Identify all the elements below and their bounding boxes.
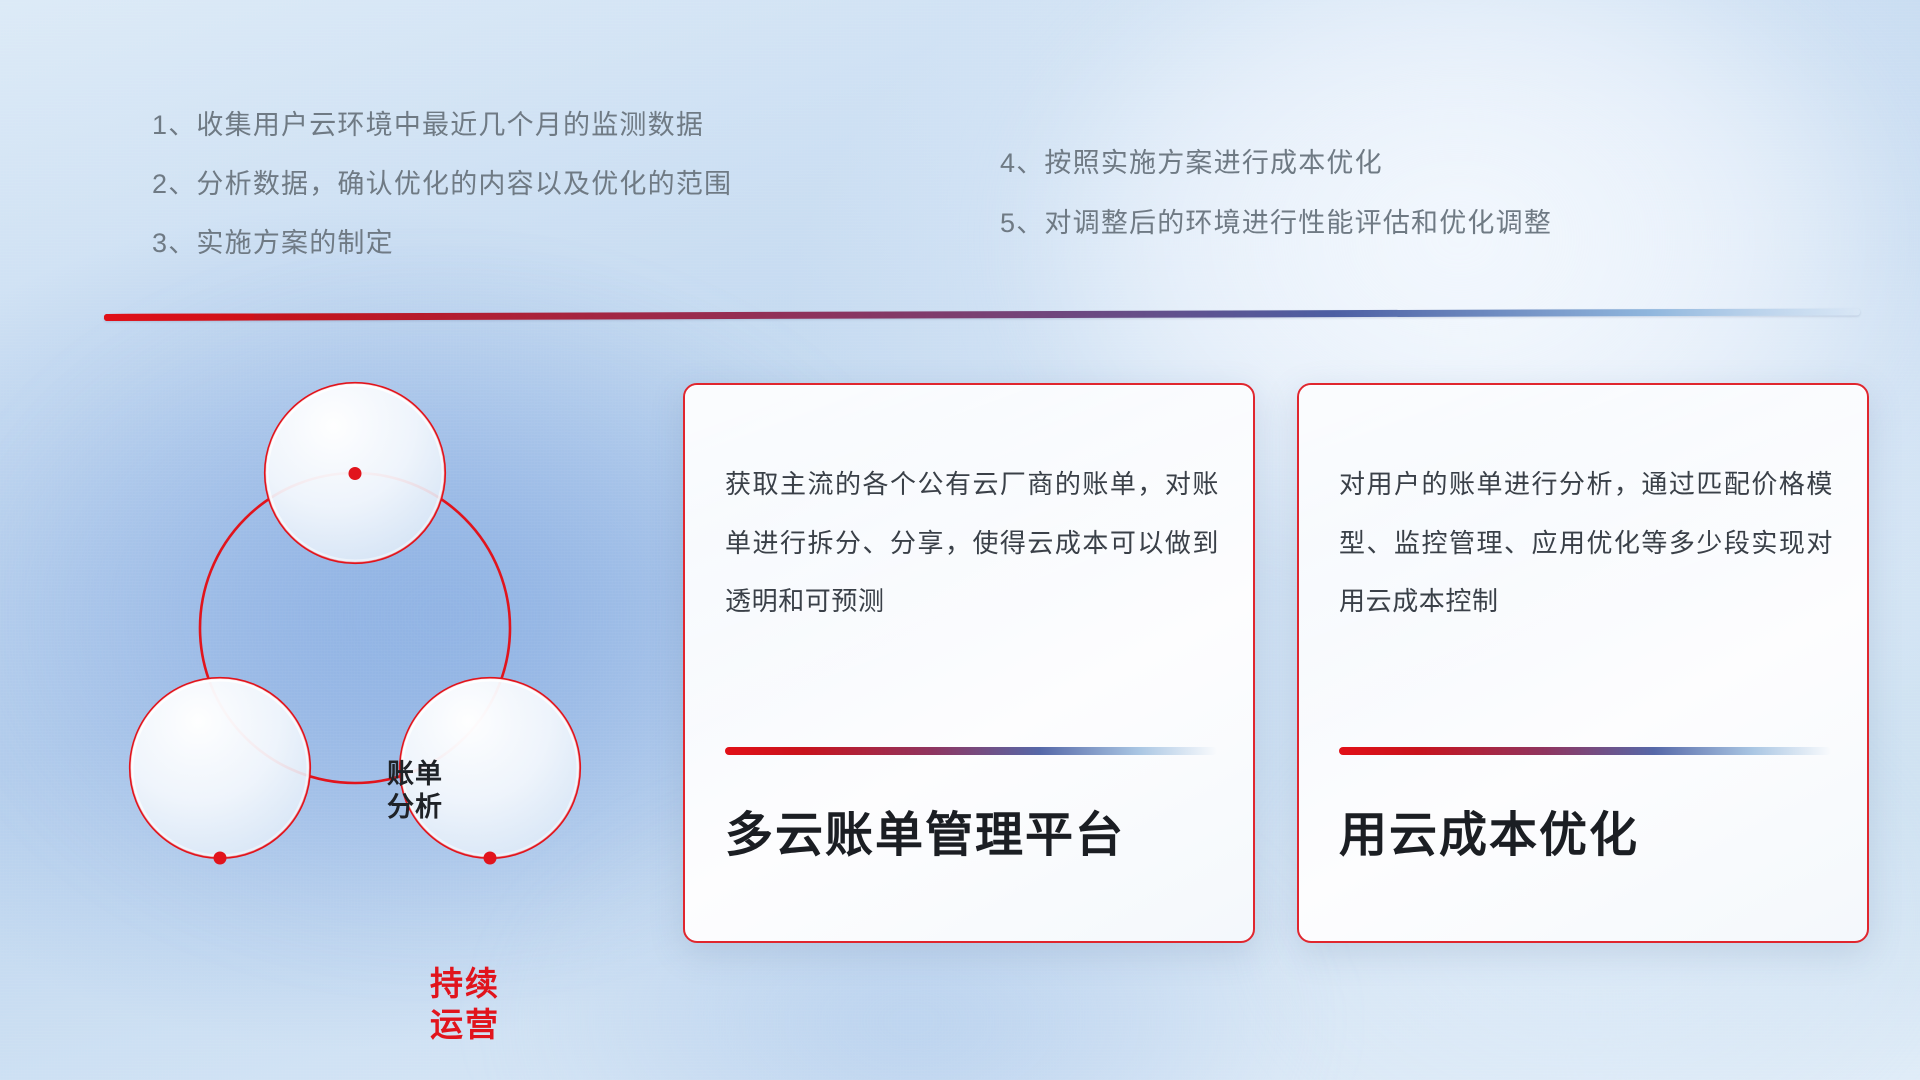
card-title: 多云账单管理平台 (725, 795, 1223, 865)
bullet-item-2: 2、分析数据，确认优化的内容以及优化的范围 (152, 171, 732, 198)
venn-diagram: 账单 分析 操作 运营 优化 策略 持续 运营 (95, 355, 655, 965)
card-body-text: 获取主流的各个公有云厂商的账单，对账单进行拆分、分享，使得云成本可以做到透明和可… (725, 455, 1219, 631)
venn-node-dot-right (484, 852, 497, 865)
info-card-cloud-cost-optimization[interactable]: 对用户的账单进行分析，通过匹配价格模型、监控管理、应用优化等多少段实现对用云成本… (1297, 383, 1869, 943)
card-title: 用云成本优化 (1339, 795, 1837, 865)
bullet-list-left: 1、收集用户云环境中最近几个月的监测数据 2、分析数据，确认优化的内容以及优化的… (152, 112, 732, 289)
card-divider-rule (725, 747, 1217, 755)
venn-node-dot-left (214, 852, 227, 865)
venn-diagram-svg (95, 355, 655, 965)
bullet-item-5: 5、对调整后的环境进行性能评估和优化调整 (1000, 210, 1552, 237)
bullet-item-3: 3、实施方案的制定 (152, 230, 732, 257)
card-body-text: 对用户的账单进行分析，通过匹配价格模型、监控管理、应用优化等多少段实现对用云成本… (1339, 455, 1833, 631)
venn-label-center: 持续 运营 (380, 963, 550, 1046)
bullet-item-1: 1、收集用户云环境中最近几个月的监测数据 (152, 112, 732, 139)
venn-node-dot-top (349, 467, 362, 480)
bullet-item-4: 4、按照实施方案进行成本优化 (1000, 150, 1552, 177)
card-divider-rule (1339, 747, 1831, 755)
bullet-lists: 1、收集用户云环境中最近几个月的监测数据 2、分析数据，确认优化的内容以及优化的… (0, 0, 1920, 300)
bullet-list-right: 4、按照实施方案进行成本优化 5、对调整后的环境进行性能评估和优化调整 (1000, 150, 1552, 270)
info-card-multi-cloud-bill-platform[interactable]: 获取主流的各个公有云厂商的账单，对账单进行拆分、分享，使得云成本可以做到透明和可… (683, 383, 1255, 943)
venn-label-bill-analysis: 账单 分析 (340, 758, 490, 824)
